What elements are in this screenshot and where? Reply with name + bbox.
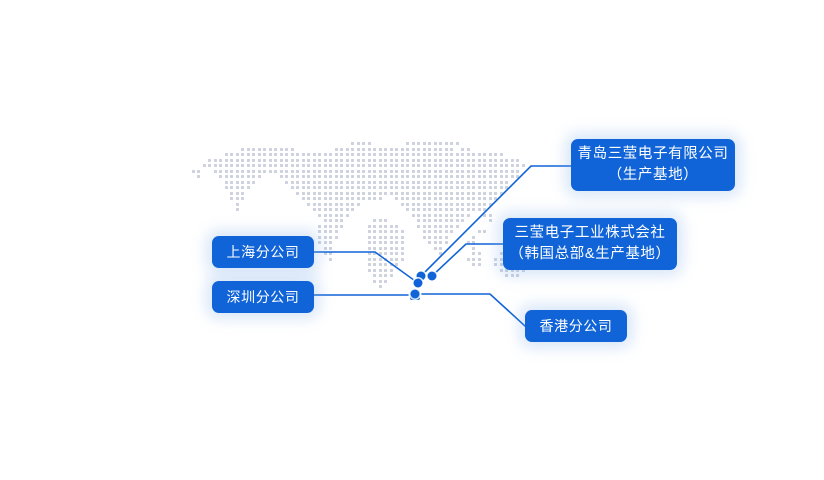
map-dot	[384, 247, 387, 250]
map-dot	[467, 214, 470, 217]
map-dot	[307, 197, 310, 200]
map-dot	[395, 258, 398, 261]
map-dot	[362, 164, 365, 167]
map-dot	[423, 197, 426, 200]
map-dot	[423, 203, 426, 206]
map-dot	[505, 164, 508, 167]
map-dot	[472, 170, 475, 173]
map-dot	[401, 148, 404, 151]
map-dot	[505, 159, 508, 162]
map-dot	[456, 219, 459, 222]
map-dot	[478, 153, 481, 156]
map-dot	[434, 142, 437, 145]
map-dot	[489, 170, 492, 173]
map-dot	[225, 164, 228, 167]
map-dot	[346, 192, 349, 195]
map-dot	[263, 164, 266, 167]
map-dot	[236, 186, 239, 189]
map-dot	[478, 263, 481, 266]
map-dot	[236, 192, 239, 195]
map-dot	[313, 208, 316, 211]
map-dot	[439, 175, 442, 178]
map-dot	[225, 186, 228, 189]
map-dot	[483, 164, 486, 167]
map-dot	[335, 164, 338, 167]
map-dot	[412, 164, 415, 167]
map-dot	[379, 258, 382, 261]
map-dot	[313, 164, 316, 167]
map-dot	[395, 252, 398, 255]
map-dot	[291, 153, 294, 156]
map-dot	[258, 148, 261, 151]
map-dot	[489, 192, 492, 195]
map-dot	[434, 186, 437, 189]
map-dot	[434, 164, 437, 167]
map-dot	[461, 148, 464, 151]
map-dot	[230, 153, 233, 156]
map-dot	[368, 263, 371, 266]
map-dot	[373, 258, 376, 261]
map-dot	[439, 214, 442, 217]
map-dot	[285, 148, 288, 151]
map-dot	[445, 148, 448, 151]
map-dot	[428, 186, 431, 189]
map-dot	[456, 164, 459, 167]
map-dot	[467, 258, 470, 261]
map-dot	[401, 170, 404, 173]
map-dot	[472, 175, 475, 178]
map-dot	[390, 175, 393, 178]
map-label-text-shanghai: 上海分公司	[227, 242, 300, 262]
map-dot	[247, 181, 250, 184]
map-dot	[230, 192, 233, 195]
map-dot	[384, 164, 387, 167]
map-dot	[439, 230, 442, 233]
map-dot	[505, 274, 508, 277]
map-dot	[307, 164, 310, 167]
map-dot	[489, 197, 492, 200]
map-dot	[351, 153, 354, 156]
map-dot	[390, 274, 393, 277]
map-dot	[269, 159, 272, 162]
map-dot	[324, 159, 327, 162]
map-dot	[230, 181, 233, 184]
map-dot	[263, 159, 266, 162]
map-dot	[335, 230, 338, 233]
map-dot	[450, 181, 453, 184]
map-label-qingdao[interactable]: 青岛三莹电子有限公司 （生产基地）	[571, 139, 735, 191]
map-dot	[384, 192, 387, 195]
map-dot	[439, 225, 442, 228]
map-dot	[379, 153, 382, 156]
map-dot	[324, 203, 327, 206]
map-dot	[296, 181, 299, 184]
map-dot	[379, 263, 382, 266]
map-dot	[456, 197, 459, 200]
map-dot	[478, 230, 481, 233]
map-dot	[494, 197, 497, 200]
map-label-shanghai[interactable]: 上海分公司	[212, 236, 314, 268]
map-dot	[423, 208, 426, 211]
map-dot	[483, 170, 486, 173]
map-dot	[467, 241, 470, 244]
map-dot	[445, 208, 448, 211]
map-dot	[329, 236, 332, 239]
map-dot	[313, 197, 316, 200]
map-dot	[461, 170, 464, 173]
map-dot	[384, 252, 387, 255]
map-dot	[208, 164, 211, 167]
map-dot	[461, 159, 464, 162]
map-dot	[390, 230, 393, 233]
map-dot	[384, 236, 387, 239]
map-dot	[280, 159, 283, 162]
map-dot	[478, 258, 481, 261]
map-dot	[379, 230, 382, 233]
map-dot	[423, 164, 426, 167]
map-dot	[368, 225, 371, 228]
map-dot	[401, 230, 404, 233]
map-dot	[368, 181, 371, 184]
map-dot	[467, 148, 470, 151]
map-dot	[318, 208, 321, 211]
map-dot	[390, 225, 393, 228]
map-dot	[329, 164, 332, 167]
map-dot	[258, 164, 261, 167]
city-marker-korea[interactable]	[428, 272, 437, 281]
map-dot	[252, 148, 255, 151]
map-dot	[483, 230, 486, 233]
map-dot	[280, 164, 283, 167]
map-dot	[511, 164, 514, 167]
map-dot	[450, 219, 453, 222]
city-marker-shanghai[interactable]	[414, 279, 423, 288]
map-dot	[390, 186, 393, 189]
map-dot	[357, 203, 360, 206]
map-dot	[428, 153, 431, 156]
map-dot	[395, 263, 398, 266]
map-dot	[395, 164, 398, 167]
map-dot	[505, 170, 508, 173]
map-dot	[384, 263, 387, 266]
map-dot	[445, 186, 448, 189]
map-dot	[445, 225, 448, 228]
map-dot	[439, 181, 442, 184]
map-dot	[379, 252, 382, 255]
map-dot	[285, 181, 288, 184]
map-dot	[483, 186, 486, 189]
map-dot	[445, 203, 448, 206]
map-dot	[450, 186, 453, 189]
map-dot	[483, 197, 486, 200]
map-dot	[472, 252, 475, 255]
map-dot	[340, 159, 343, 162]
map-dot	[362, 142, 365, 145]
map-dot	[351, 186, 354, 189]
map-dot	[379, 285, 382, 288]
map-dot	[428, 203, 431, 206]
map-dot	[439, 142, 442, 145]
map-dot	[500, 164, 503, 167]
map-dot	[511, 159, 514, 162]
map-dot	[511, 175, 514, 178]
map-dot	[346, 164, 349, 167]
map-dot	[412, 192, 415, 195]
map-dot	[434, 181, 437, 184]
map-dot	[439, 159, 442, 162]
map-dot	[395, 230, 398, 233]
map-dot	[390, 159, 393, 162]
map-dot	[214, 164, 217, 167]
map-dot	[362, 197, 365, 200]
map-dot	[439, 164, 442, 167]
map-dot	[318, 159, 321, 162]
map-dot	[434, 175, 437, 178]
map-dot	[230, 170, 233, 173]
map-dot	[456, 225, 459, 228]
map-dot	[241, 164, 244, 167]
map-dot	[335, 159, 338, 162]
map-dot	[428, 148, 431, 151]
map-dot	[324, 252, 327, 255]
map-dot	[395, 241, 398, 244]
map-dot	[379, 148, 382, 151]
map-dot	[274, 164, 277, 167]
map-label-shenzhen[interactable]: 深圳分公司	[212, 281, 314, 313]
map-dot	[428, 142, 431, 145]
map-dot	[313, 186, 316, 189]
map-dot	[390, 153, 393, 156]
map-dot	[406, 181, 409, 184]
map-dot	[269, 170, 272, 173]
map-dot	[302, 197, 305, 200]
map-dot	[494, 164, 497, 167]
map-dot	[335, 225, 338, 228]
map-dot	[456, 186, 459, 189]
map-dot	[516, 170, 519, 173]
map-dot	[324, 225, 327, 228]
map-dot	[401, 247, 404, 250]
map-dot	[346, 181, 349, 184]
map-dot	[423, 153, 426, 156]
map-dot	[489, 175, 492, 178]
map-label-hongkong[interactable]: 香港分公司	[525, 310, 627, 342]
map-dot	[439, 203, 442, 206]
map-dot	[351, 164, 354, 167]
map-dot	[379, 241, 382, 244]
map-dot	[346, 175, 349, 178]
map-dot	[478, 181, 481, 184]
map-dot	[324, 247, 327, 250]
map-dot	[335, 181, 338, 184]
map-dot	[379, 159, 382, 162]
map-dot	[302, 170, 305, 173]
map-dot	[230, 159, 233, 162]
map-dot	[368, 142, 371, 145]
map-dot	[329, 219, 332, 222]
map-dot	[395, 192, 398, 195]
map-dot	[236, 159, 239, 162]
map-dot	[269, 148, 272, 151]
map-dot	[417, 153, 420, 156]
map-dot	[390, 241, 393, 244]
map-dot	[467, 192, 470, 195]
map-dot	[373, 225, 376, 228]
map-dot	[291, 175, 294, 178]
map-dot	[500, 153, 503, 156]
map-dot	[351, 203, 354, 206]
map-dot	[252, 170, 255, 173]
map-dot	[412, 175, 415, 178]
map-dot	[456, 214, 459, 217]
map-dot	[401, 181, 404, 184]
map-dot	[329, 175, 332, 178]
map-dot	[461, 197, 464, 200]
map-dot	[373, 230, 376, 233]
map-dot	[274, 170, 277, 173]
map-dot	[445, 236, 448, 239]
map-dot	[230, 186, 233, 189]
map-dot	[274, 159, 277, 162]
map-dot	[241, 148, 244, 151]
map-dot	[346, 148, 349, 151]
map-dot	[302, 159, 305, 162]
map-dot	[291, 148, 294, 151]
map-dot	[478, 175, 481, 178]
map-dot	[467, 203, 470, 206]
map-dot	[236, 153, 239, 156]
map-dot	[434, 148, 437, 151]
map-dot	[368, 148, 371, 151]
map-dot	[368, 186, 371, 189]
map-dot	[307, 175, 310, 178]
map-label-korea[interactable]: 三莹电子工业株式会社 （韩国总部&生产基地）	[503, 218, 677, 270]
map-dot	[423, 236, 426, 239]
map-dot	[214, 159, 217, 162]
map-dot	[472, 192, 475, 195]
map-dot	[324, 192, 327, 195]
map-dot	[384, 219, 387, 222]
city-marker-hongkong[interactable]	[411, 290, 420, 299]
map-dot	[258, 175, 261, 178]
map-dot	[505, 175, 508, 178]
map-dot	[373, 164, 376, 167]
map-dot	[340, 153, 343, 156]
map-dot	[428, 230, 431, 233]
map-dot	[472, 247, 475, 250]
map-dot	[434, 197, 437, 200]
map-dot	[472, 236, 475, 239]
map-dot	[373, 274, 376, 277]
map-dot	[351, 170, 354, 173]
map-dot	[461, 153, 464, 156]
map-dot	[428, 175, 431, 178]
map-dot	[368, 175, 371, 178]
map-dot	[439, 148, 442, 151]
map-dot	[412, 186, 415, 189]
map-dot	[511, 274, 514, 277]
map-dot	[445, 181, 448, 184]
map-dot	[467, 175, 470, 178]
map-dot	[450, 142, 453, 145]
map-dot	[236, 175, 239, 178]
map-dot	[467, 153, 470, 156]
map-dot	[489, 164, 492, 167]
map-dot	[483, 203, 486, 206]
map-dot	[329, 241, 332, 244]
map-dot	[428, 241, 431, 244]
map-dot	[307, 192, 310, 195]
map-dot	[241, 181, 244, 184]
map-dot	[263, 148, 266, 151]
map-dot	[379, 274, 382, 277]
map-dot	[395, 225, 398, 228]
map-dot	[406, 159, 409, 162]
map-dot	[439, 170, 442, 173]
map-dot	[478, 170, 481, 173]
map-dot	[456, 208, 459, 211]
map-dot	[505, 181, 508, 184]
map-dot	[406, 175, 409, 178]
map-dot	[335, 219, 338, 222]
map-dot	[379, 175, 382, 178]
map-dot	[329, 153, 332, 156]
map-dot	[368, 159, 371, 162]
map-dot	[483, 175, 486, 178]
map-dot	[346, 186, 349, 189]
map-dot	[494, 186, 497, 189]
map-dot	[269, 153, 272, 156]
map-dot	[340, 148, 343, 151]
map-dot	[373, 197, 376, 200]
map-dot	[401, 241, 404, 244]
map-dot	[434, 219, 437, 222]
map-dot	[434, 225, 437, 228]
map-dot	[417, 148, 420, 151]
map-dot	[395, 159, 398, 162]
map-dot	[390, 236, 393, 239]
map-dot	[401, 192, 404, 195]
map-dot	[302, 175, 305, 178]
map-dot	[489, 214, 492, 217]
map-dot	[461, 203, 464, 206]
map-dot	[423, 170, 426, 173]
map-dot	[500, 192, 503, 195]
map-dot	[241, 159, 244, 162]
map-dot	[274, 148, 277, 151]
map-dot	[252, 159, 255, 162]
map-dot	[439, 192, 442, 195]
map-dot	[302, 153, 305, 156]
map-dot	[390, 192, 393, 195]
map-dot	[478, 192, 481, 195]
map-dot	[406, 186, 409, 189]
map-dot	[384, 225, 387, 228]
map-dot	[384, 175, 387, 178]
map-dot	[296, 153, 299, 156]
map-dot	[417, 214, 420, 217]
map-dot	[483, 208, 486, 211]
map-dot	[445, 192, 448, 195]
map-dot	[478, 252, 481, 255]
map-dot	[390, 258, 393, 261]
map-dot	[379, 164, 382, 167]
map-dot	[412, 203, 415, 206]
map-dot	[373, 159, 376, 162]
map-dot	[324, 170, 327, 173]
map-dot	[472, 164, 475, 167]
map-dot	[368, 258, 371, 261]
